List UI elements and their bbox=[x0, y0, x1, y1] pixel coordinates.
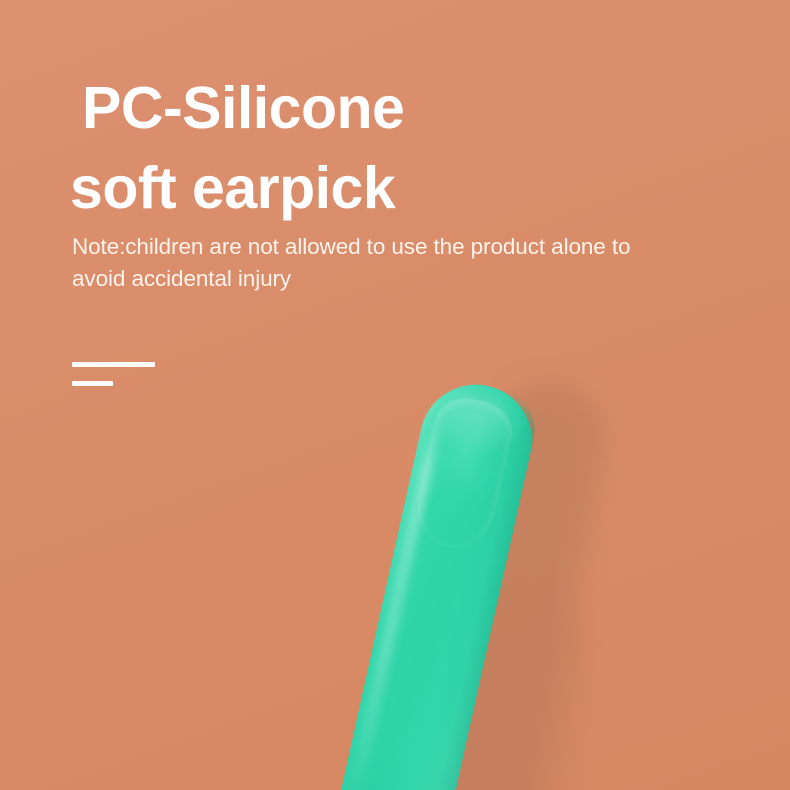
decorative-rule-short bbox=[72, 381, 113, 386]
product-promo-poster: PC-Silicone soft earpick Note:children a… bbox=[0, 0, 790, 790]
safety-note-line-1: Note:children are not allowed to use the… bbox=[72, 234, 545, 259]
page-title-line-2: soft earpick bbox=[70, 148, 730, 228]
decorative-rule-long bbox=[72, 362, 155, 367]
safety-note: Note:children are not allowed to use the… bbox=[72, 231, 672, 295]
decorative-divider bbox=[72, 362, 192, 386]
page-title: PC-Silicone soft earpick bbox=[70, 68, 730, 228]
page-title-line-1: PC-Silicone bbox=[70, 68, 730, 148]
